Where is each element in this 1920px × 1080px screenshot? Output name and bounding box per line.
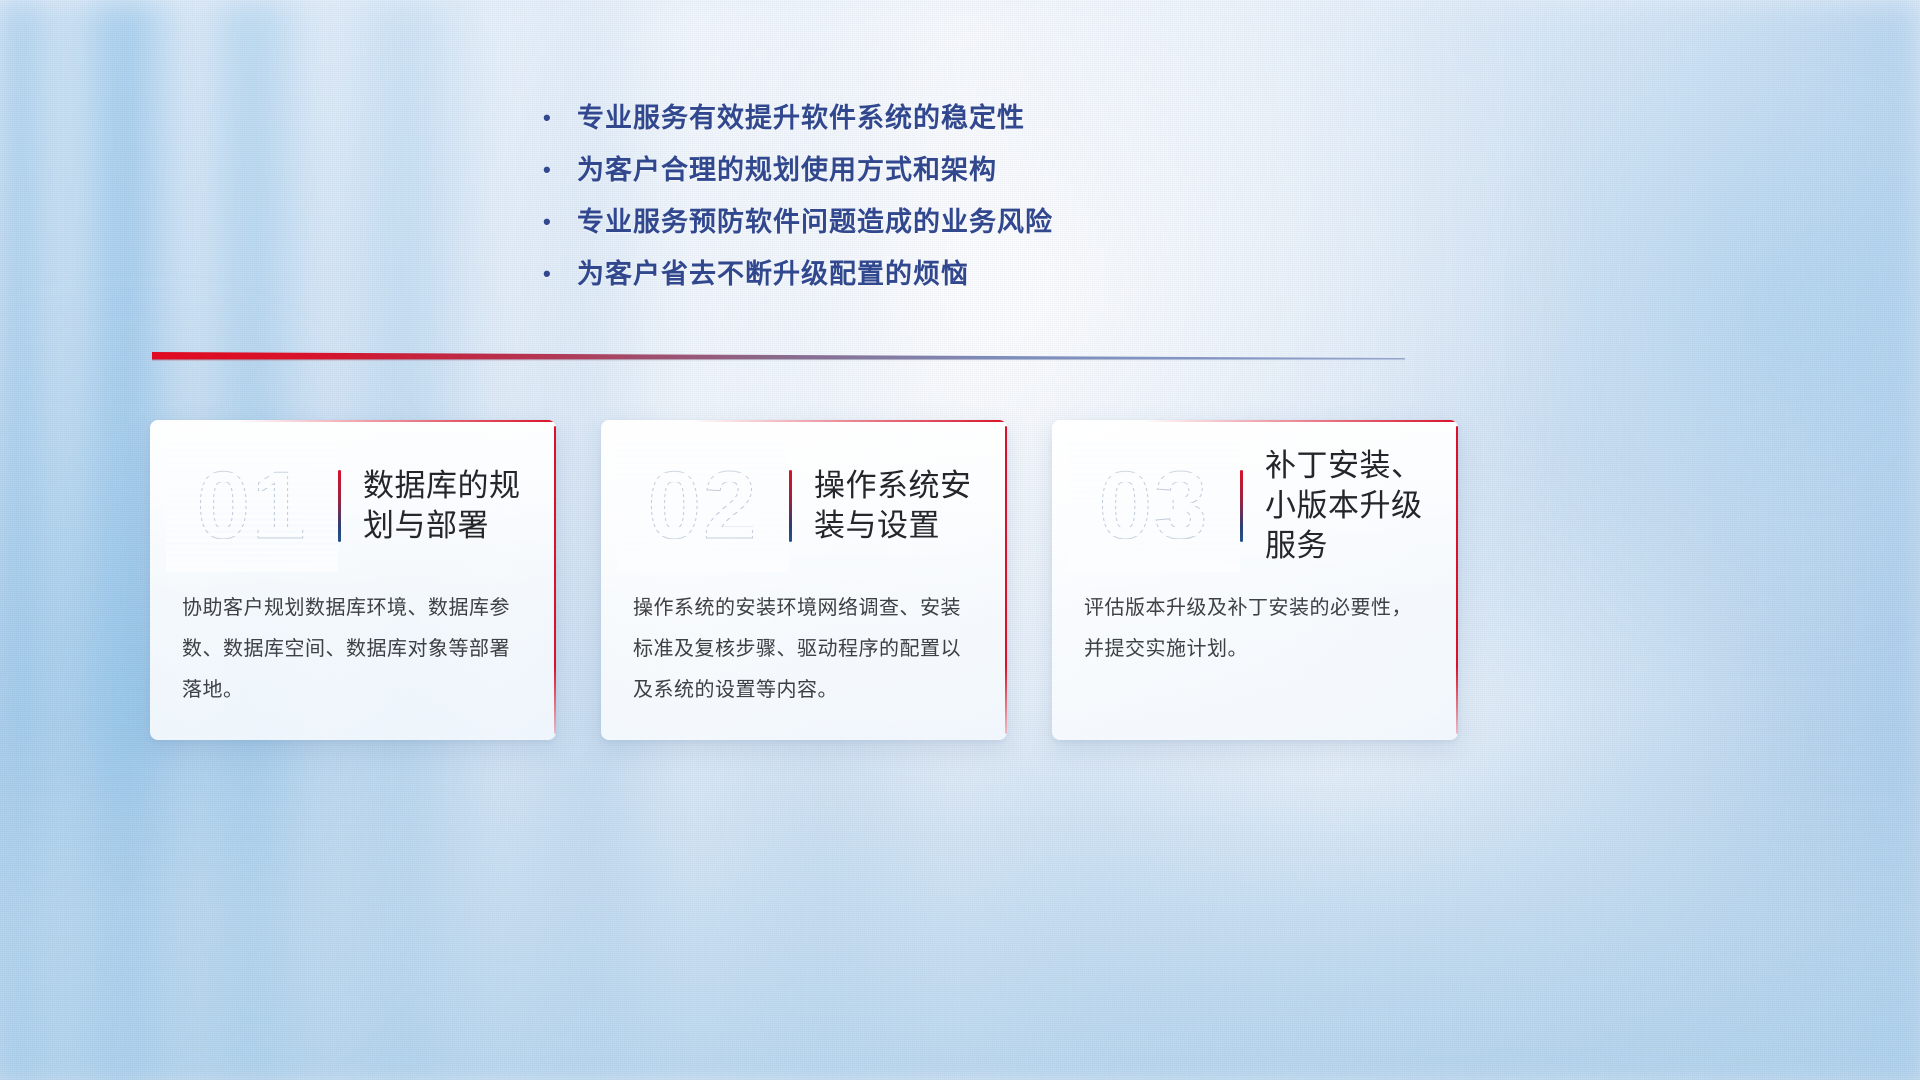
- service-card[interactable]: 01 数据库的规划与部署 协助客户规划数据库环境、数据库参数、数据库空间、数据库…: [150, 420, 556, 740]
- benefits-bullet-list: • 专业服务有效提升软件系统的稳定性 • 为客户合理的规划使用方式和架构 • 专…: [543, 92, 1263, 300]
- list-item: • 为客户省去不断升级配置的烦恼: [543, 248, 1263, 300]
- bullet-dot-icon: •: [543, 196, 577, 248]
- card-accent-top-edge: [239, 420, 556, 422]
- card-title-accent-bar: [789, 470, 792, 542]
- card-description: 评估版本升级及补丁安装的必要性，并提交实施计划。: [1084, 588, 1430, 670]
- card-number-watermark: 01: [172, 446, 332, 566]
- card-accent-top-edge: [1141, 420, 1458, 422]
- divider-tapered-line: [152, 350, 1405, 364]
- list-item-label: 为客户省去不断升级配置的烦恼: [577, 248, 969, 300]
- card-header: 01 数据库的规划与部署: [150, 446, 556, 566]
- service-card[interactable]: 02 操作系统安装与设置 操作系统的安装环境网络调查、安装标准及复核步骤、驱动程…: [601, 420, 1007, 740]
- bullet-dot-icon: •: [543, 248, 577, 300]
- card-number-label: 01: [197, 458, 308, 554]
- card-number-watermark: 03: [1074, 446, 1234, 566]
- list-item-label: 专业服务预防软件问题造成的业务风险: [577, 196, 1053, 248]
- card-description: 操作系统的安装环境网络调查、安装标准及复核步骤、驱动程序的配置以及系统的设置等内…: [633, 588, 979, 711]
- list-item-label: 为客户合理的规划使用方式和架构: [577, 144, 997, 196]
- card-accent-top-edge: [690, 420, 1007, 422]
- card-header: 03 补丁安装、小版本升级服务: [1052, 446, 1458, 566]
- section-divider: [152, 350, 1405, 364]
- card-description: 协助客户规划数据库环境、数据库参数、数据库空间、数据库对象等部署落地。: [182, 588, 528, 711]
- card-title: 数据库的规划与部署: [363, 466, 556, 545]
- card-number-watermark: 02: [623, 446, 783, 566]
- list-item: • 为客户合理的规划使用方式和架构: [543, 144, 1263, 196]
- bullet-dot-icon: •: [543, 144, 577, 196]
- service-card[interactable]: 03 补丁安装、小版本升级服务 评估版本升级及补丁安装的必要性，并提交实施计划。: [1052, 420, 1458, 740]
- card-title: 补丁安装、小版本升级服务: [1265, 446, 1458, 565]
- card-title-accent-bar: [338, 470, 341, 542]
- bullet-dot-icon: •: [543, 92, 577, 144]
- card-title-accent-bar: [1240, 470, 1243, 542]
- list-item: • 专业服务预防软件问题造成的业务风险: [543, 196, 1263, 248]
- card-title: 操作系统安装与设置: [814, 466, 1007, 545]
- list-item-label: 专业服务有效提升软件系统的稳定性: [577, 92, 1025, 144]
- service-card-row: 01 数据库的规划与部署 协助客户规划数据库环境、数据库参数、数据库空间、数据库…: [150, 420, 1460, 745]
- card-header: 02 操作系统安装与设置: [601, 446, 1007, 566]
- card-number-label: 02: [648, 458, 759, 554]
- card-number-label: 03: [1099, 458, 1210, 554]
- list-item: • 专业服务有效提升软件系统的稳定性: [543, 92, 1263, 144]
